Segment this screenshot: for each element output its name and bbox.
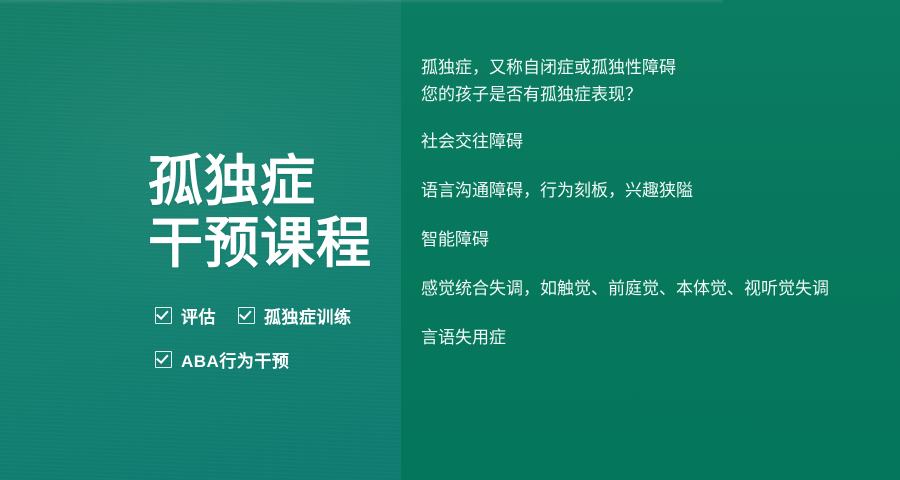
feature-item-aba-intervention[interactable]: ABA行为干预 — [155, 347, 289, 372]
check-box-icon — [155, 351, 172, 368]
intro-line-2: 您的孩子是否有孤独症表现？ — [421, 81, 886, 108]
description-panel: 孤独症，又称自闭症或孤独性障碍 您的孩子是否有孤独症表现？ 社会交往障碍 语言沟… — [421, 54, 886, 350]
feature-row: ABA行为干预 — [155, 344, 405, 374]
feature-item-assessment[interactable]: 评估 — [155, 303, 216, 328]
feature-label: 孤独症训练 — [264, 303, 352, 328]
feature-label: ABA行为干预 — [181, 347, 289, 372]
hero-feature-list: 评估 孤独症训练 ABA行为干预 — [155, 300, 405, 374]
symptom-line-1: 社会交往障碍 — [421, 130, 886, 154]
check-box-icon — [155, 307, 172, 324]
promo-banner: 孤独症 干预课程 评估 孤独症训练 ABA行为干预 孤独症，又称自闭症或孤独性障… — [0, 0, 900, 480]
symptom-line-2: 语言沟通障碍，行为刻板，兴趣狭隘 — [421, 179, 886, 203]
intro-block: 孤独症，又称自闭症或孤独性障碍 您的孩子是否有孤独症表现？ — [421, 54, 886, 108]
symptom-line-4: 感觉统合失调，如触觉、前庭觉、本体觉、视听觉失调 — [421, 277, 886, 301]
symptom-line-3: 智能障碍 — [421, 228, 886, 252]
hero-title-line-2: 干预课程 — [148, 212, 398, 274]
feature-label: 评估 — [181, 303, 216, 328]
check-box-icon — [238, 307, 255, 324]
intro-line-1: 孤独症，又称自闭症或孤独性障碍 — [421, 54, 886, 81]
feature-item-autism-training[interactable]: 孤独症训练 — [238, 303, 352, 328]
hero-title-line-1: 孤独症 — [148, 150, 398, 212]
symptom-line-5: 言语失用症 — [421, 326, 886, 350]
feature-row: 评估 孤独症训练 — [155, 300, 405, 330]
hero-title-block: 孤独症 干预课程 — [148, 150, 398, 274]
